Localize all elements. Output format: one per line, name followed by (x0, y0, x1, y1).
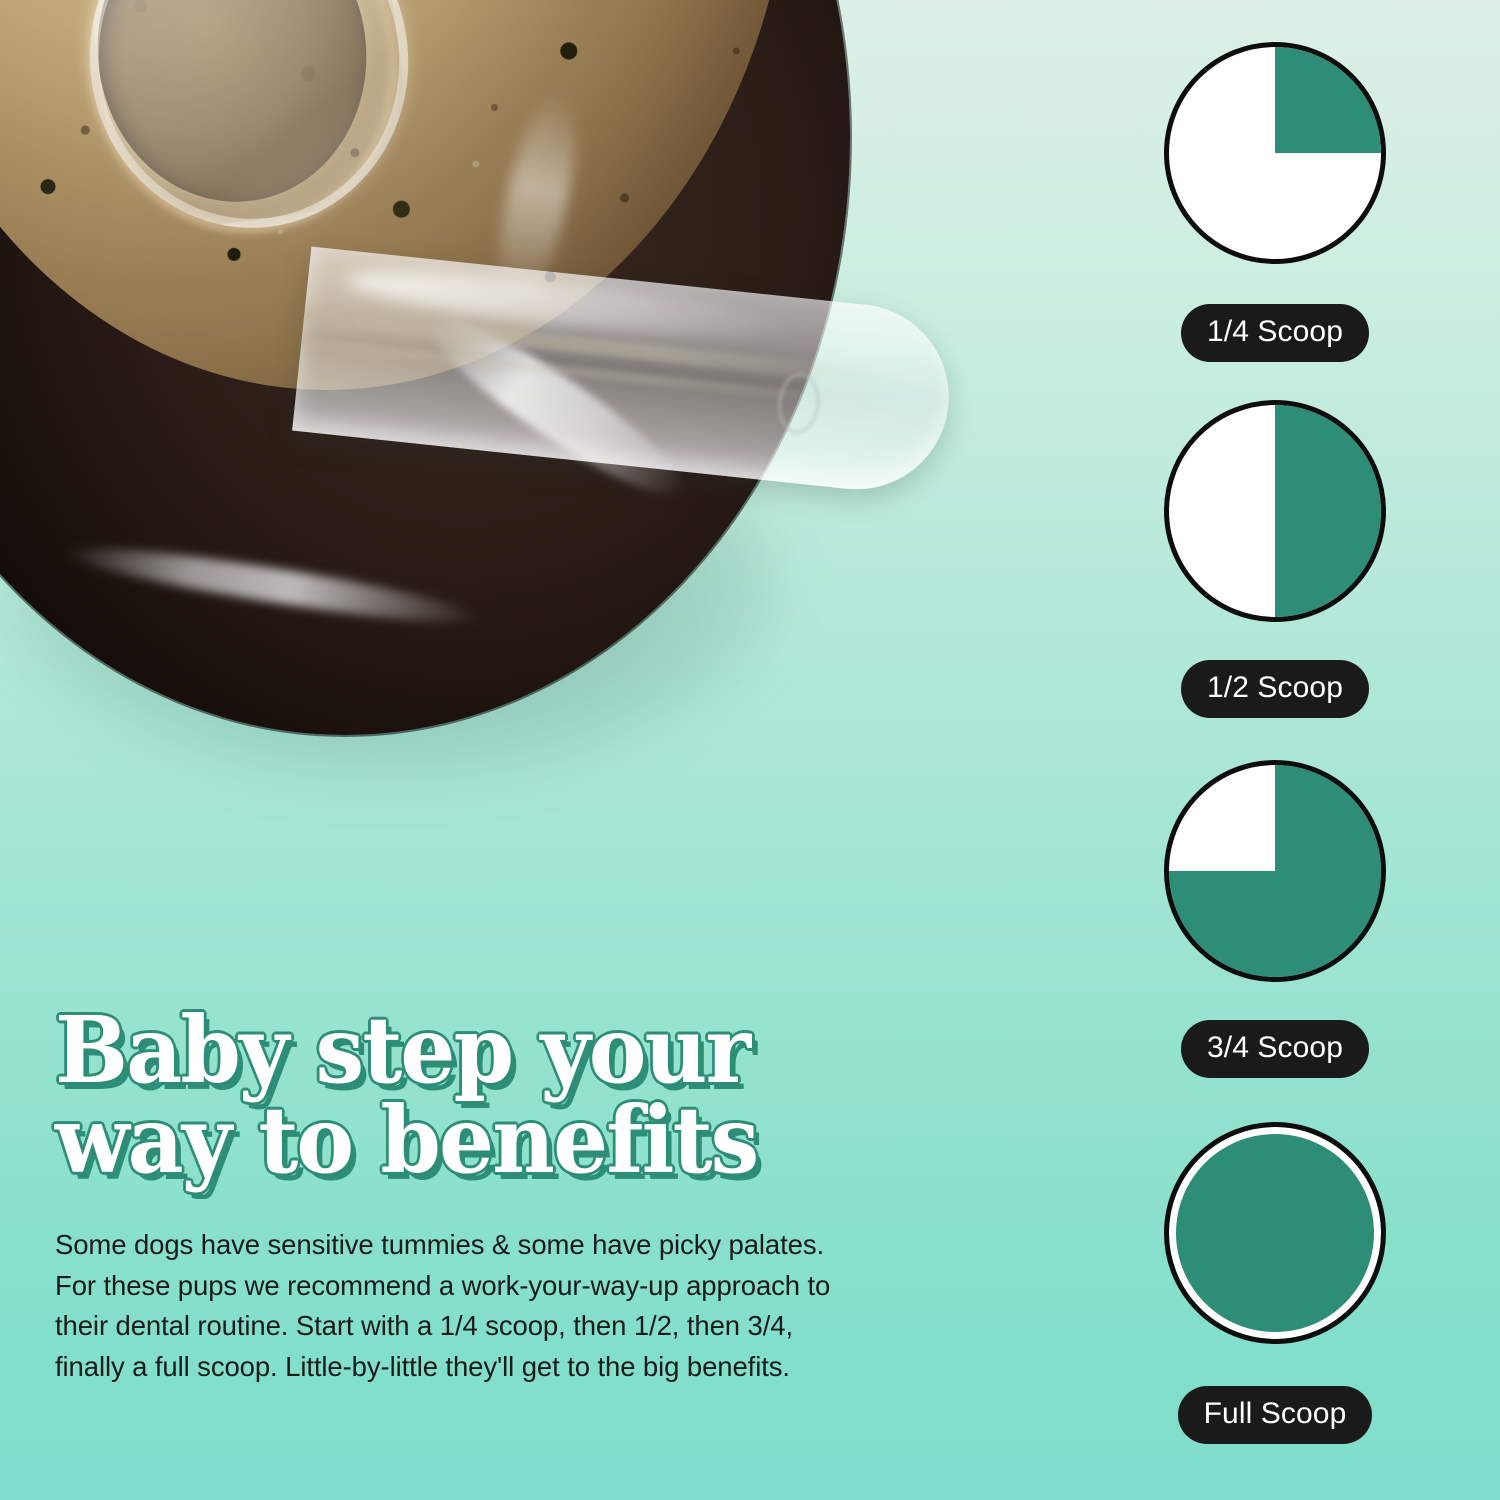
scoop-label-quarter: 1/4 Scoop (1181, 304, 1369, 362)
scoop-dial-half: 1/2 Scoop (1125, 400, 1425, 718)
jar-rim-highlight-bottom (62, 535, 482, 634)
pie-chart-half (1164, 400, 1386, 622)
scoop-label-half: 1/2 Scoop (1181, 660, 1369, 718)
product-photo (0, 0, 900, 870)
headline-line-2: way to benefits (55, 1095, 807, 1185)
copy-block: Baby step your way to benefits Some dogs… (55, 1005, 855, 1387)
scoop-handle-tip-mark (775, 370, 823, 436)
promo-graphic: 1/4 Scoop 1/2 Scoop 3/4 Scoop Full Scoop… (0, 0, 1500, 1500)
pie-chart-quarter (1164, 42, 1386, 264)
pie-fill-wedge (1169, 765, 1381, 977)
pie-chart-three-quarter (1164, 760, 1386, 982)
page-title: Baby step your way to benefits (55, 1005, 807, 1185)
scoop-dial-three-quarter: 3/4 Scoop (1125, 760, 1425, 1078)
body-paragraph: Some dogs have sensitive tummies & some … (55, 1225, 845, 1387)
scoop-dial-quarter: 1/4 Scoop (1125, 42, 1425, 362)
scoop-dial-full: Full Scoop (1125, 1122, 1425, 1444)
scoop-dial-column: 1/4 Scoop 1/2 Scoop 3/4 Scoop Full Scoop (1125, 0, 1425, 1500)
pie-chart-full (1164, 1122, 1386, 1344)
scoop-label-three-quarter: 3/4 Scoop (1181, 1020, 1369, 1078)
pie-fill-wedge (1169, 47, 1381, 259)
pie-fill-wedge (1169, 405, 1381, 617)
scoop-label-full: Full Scoop (1178, 1386, 1373, 1444)
